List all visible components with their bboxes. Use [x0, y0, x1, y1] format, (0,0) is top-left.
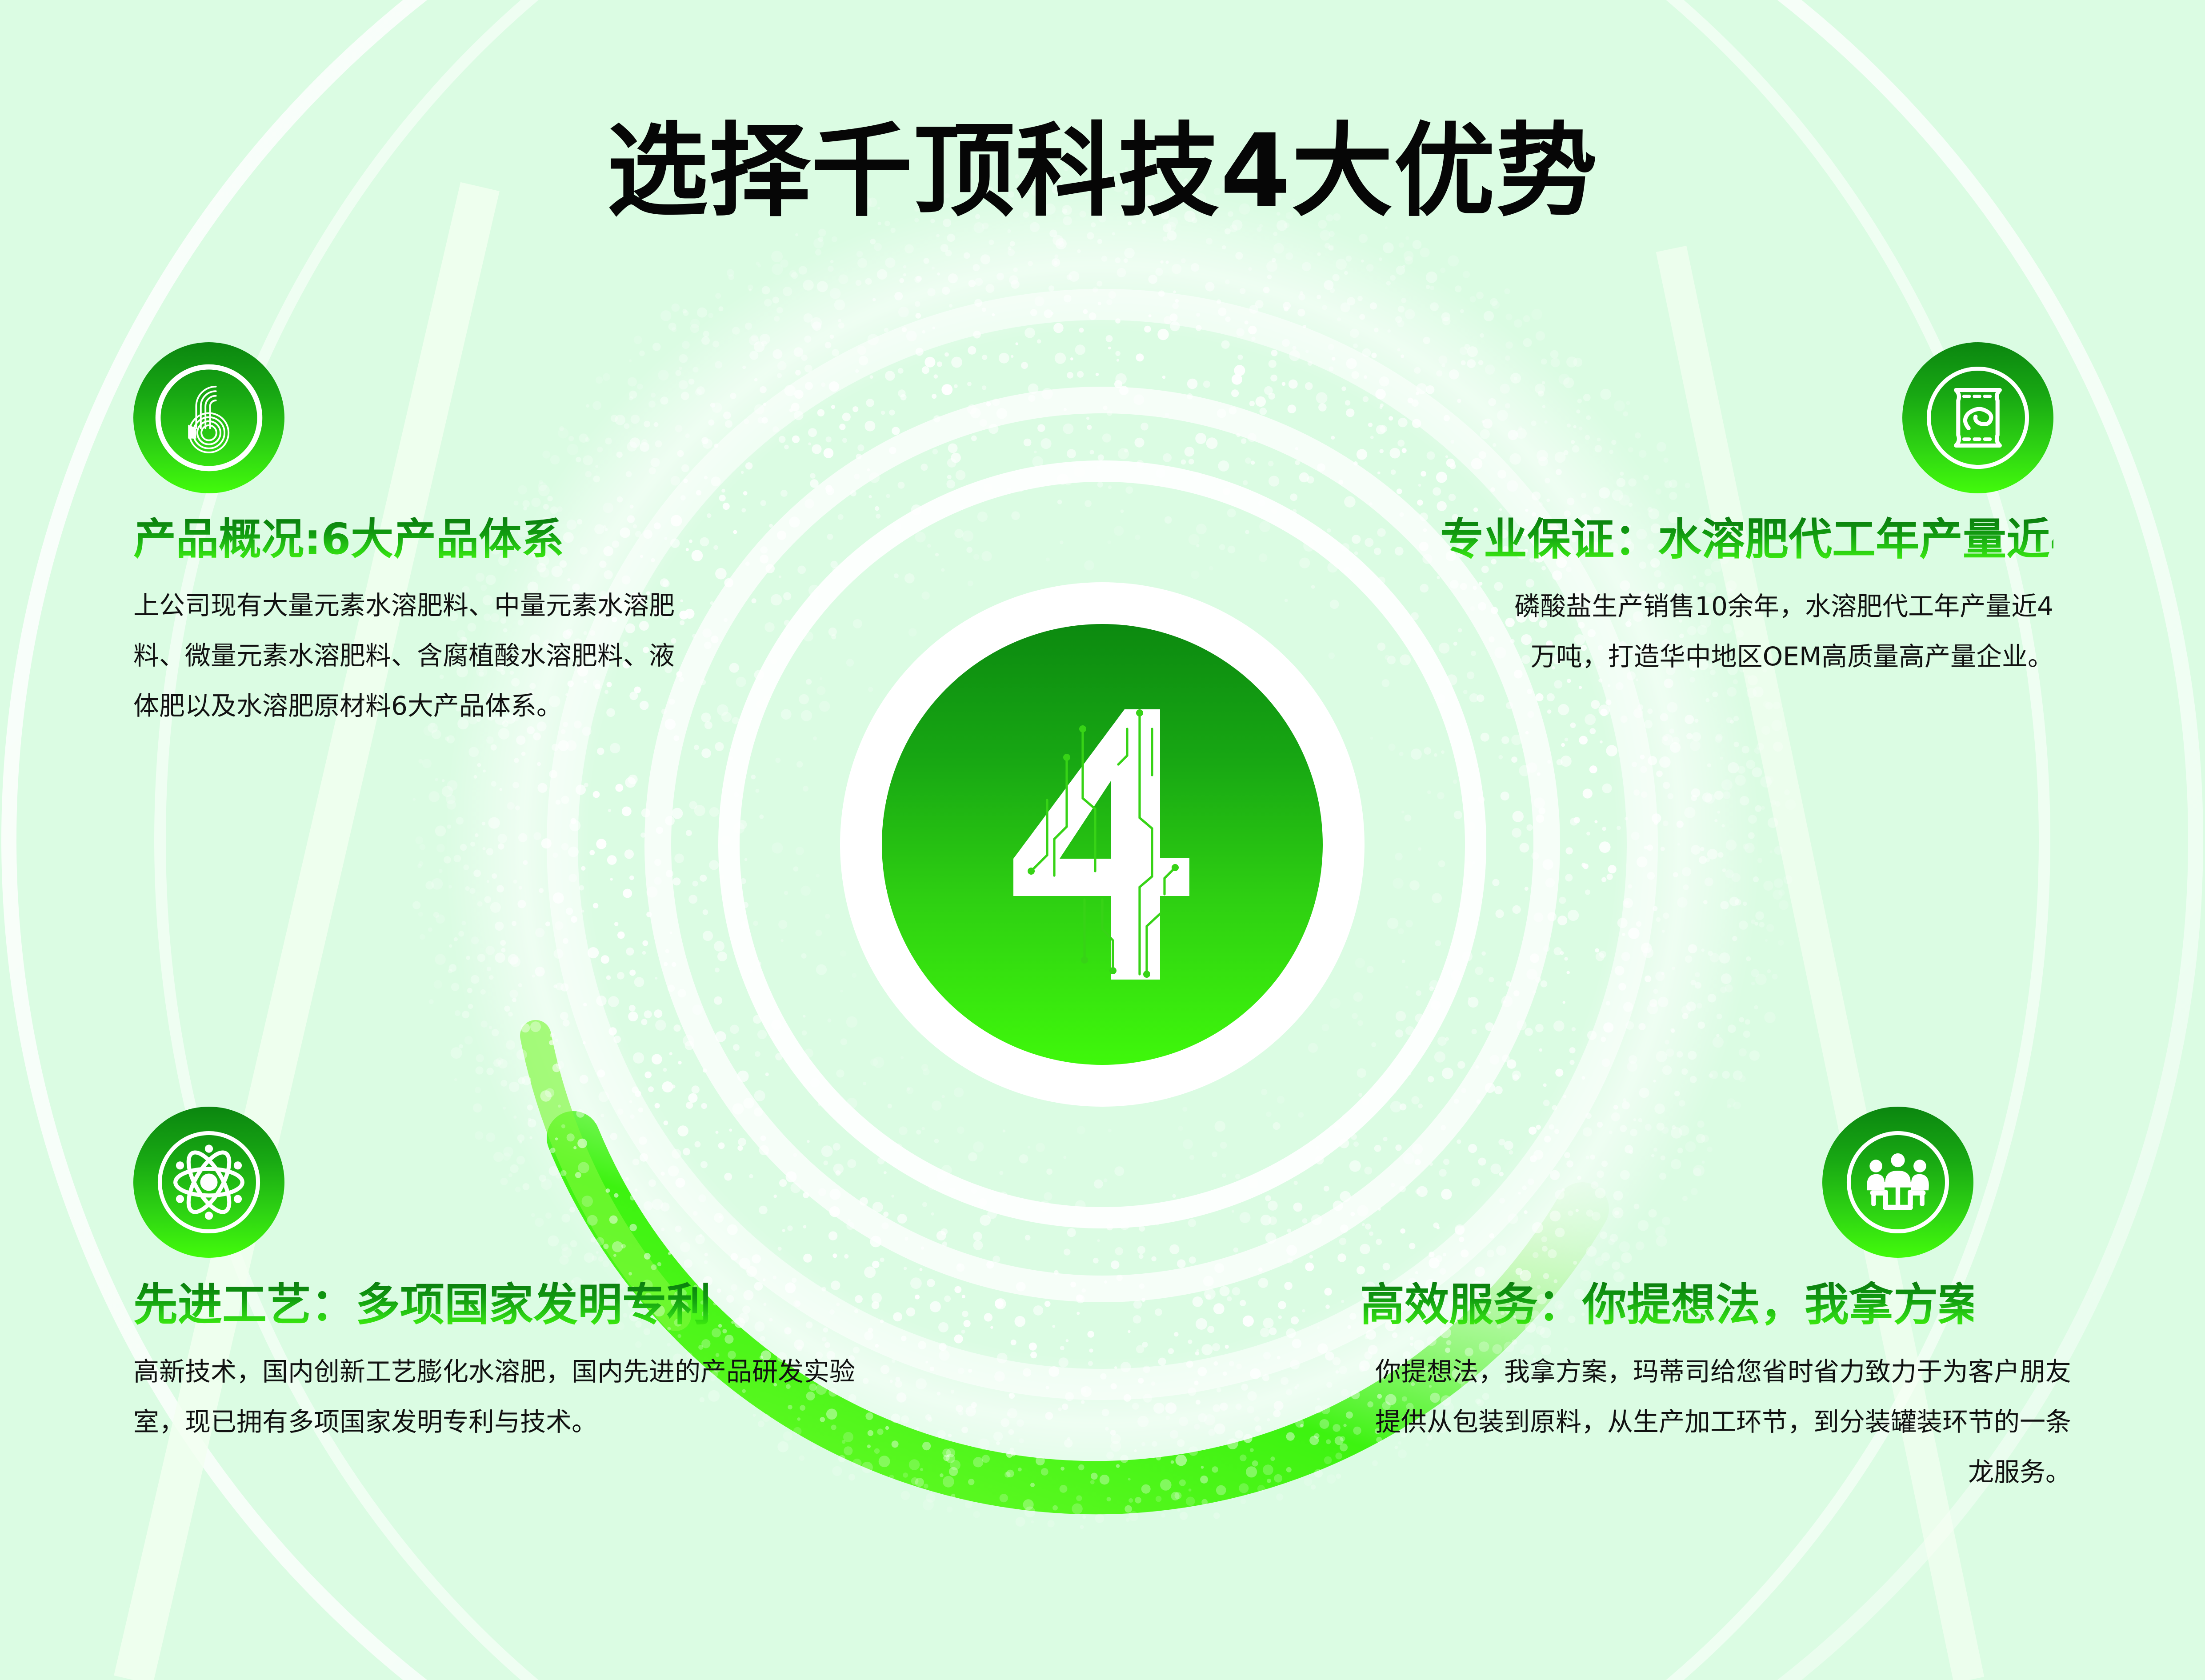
atom-icon-badge [133, 1107, 284, 1258]
feature-body: 你提想法，我拿方案，玛蒂司给您省时省力致力于为客户朋友提供从包装到原料，从生产加… [1360, 1347, 2071, 1497]
meeting-table-icon [1840, 1124, 1956, 1240]
page-title: 选择千顶科技4大优势 [0, 89, 2205, 236]
atom-icon [151, 1124, 267, 1240]
circuit-number-four-icon [978, 693, 1227, 996]
feature-body: 磷酸盐生产销售10余年，水溶肥代工年产量近4万吨，打造华中地区OEM高质量高产量… [1489, 581, 2053, 682]
center-green-disc [882, 624, 1323, 1065]
feature-block-bottom-right: 高效服务：你提想法，我拿方案 你提想法，我拿方案，玛蒂司给您省时省力致力于为客户… [1360, 1107, 1973, 1497]
feature-body: 上公司现有大量元素水溶肥料、中量元素水溶肥料、微量元素水溶肥料、含腐植酸水溶肥料… [133, 580, 678, 731]
feature-body: 高新技术，国内创新工艺膨化水溶肥，国内先进的产品研发实验室，现已拥有多项国家发明… [133, 1347, 871, 1447]
feature-heading: 产品概况:6大产品体系 [133, 516, 720, 564]
feature-block-bottom-left: 先进工艺：多项国家发明专利 高新技术，国内创新工艺膨化水溶肥，国内先进的产品研发… [133, 1107, 720, 1447]
feature-heading: 高效服务：你提想法，我拿方案 [1360, 1280, 1973, 1330]
spiral-six-icon-badge [133, 342, 284, 493]
fertilizer-bag-icon-badge [1902, 342, 2053, 493]
feature-block-top-right: 专业保证：水溶肥代工年产量近4万吨 磷酸盐生产销售10余年，水溶肥代工年产量近4… [1440, 342, 2053, 682]
feature-block-top-left: 产品概况:6大产品体系 上公司现有大量元素水溶肥料、中量元素水溶肥料、微量元素水… [133, 342, 720, 731]
spiral-six-icon [151, 360, 267, 476]
feature-heading: 先进工艺：多项国家发明专利 [133, 1280, 720, 1330]
fertilizer-bag-icon [1920, 360, 2036, 476]
meeting-table-icon-badge [1822, 1107, 1973, 1258]
center-medallion [840, 582, 1365, 1107]
feature-heading: 专业保证：水溶肥代工年产量近4万吨 [1440, 516, 2053, 564]
